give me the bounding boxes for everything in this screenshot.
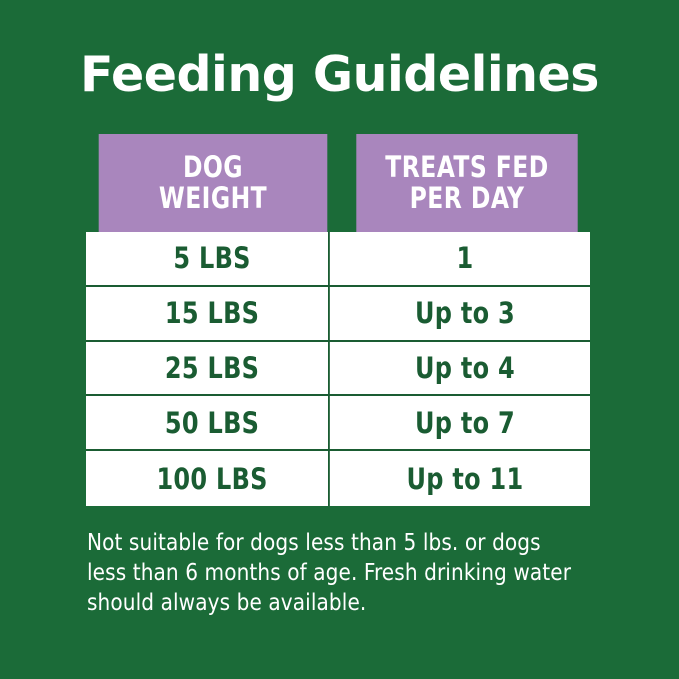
- cell-treats-per-day: 1: [350, 232, 580, 285]
- table-row: 5 LBS 1: [86, 232, 590, 287]
- column-header-dog-weight-line1: DOG: [183, 150, 243, 184]
- cell-dog-weight: 15 LBS: [96, 287, 330, 340]
- cell-treats-per-day: Up to 11: [350, 451, 580, 506]
- table-row: 100 LBS Up to 11: [86, 451, 590, 506]
- table-row: 50 LBS Up to 7: [86, 396, 590, 451]
- footnote-text: Not suitable for dogs less than 5 lbs. o…: [87, 527, 573, 617]
- feeding-guidelines-table: DOGWEIGHT TREATS FEDPER DAY 5 LBS 1 15 L…: [86, 134, 590, 506]
- table-header-row: DOGWEIGHT TREATS FEDPER DAY: [86, 134, 590, 232]
- cell-treats-per-day: Up to 3: [350, 287, 580, 340]
- page-title: Feeding Guidelines: [0, 46, 679, 104]
- cell-dog-weight: 100 LBS: [96, 451, 330, 506]
- table-row: 15 LBS Up to 3: [86, 287, 590, 342]
- column-header-dog-weight-line2: WEIGHT: [159, 181, 267, 215]
- cell-dog-weight: 50 LBS: [96, 396, 330, 449]
- cell-treats-per-day: Up to 7: [350, 396, 580, 449]
- table-row: 25 LBS Up to 4: [86, 342, 590, 397]
- column-header-treats-line2: PER DAY: [410, 181, 525, 215]
- table-body: 5 LBS 1 15 LBS Up to 3 25 LBS Up to 4 50…: [86, 232, 590, 506]
- cell-dog-weight: 5 LBS: [96, 232, 330, 285]
- column-header-dog-weight-text: DOGWEIGHT: [159, 152, 267, 214]
- column-header-treats-fed-per-day: TREATS FEDPER DAY: [356, 134, 577, 232]
- column-header-treats-text: TREATS FEDPER DAY: [385, 152, 548, 214]
- header-column-divider: [340, 134, 344, 232]
- column-header-dog-weight: DOGWEIGHT: [99, 134, 328, 232]
- cell-dog-weight: 25 LBS: [96, 342, 330, 395]
- cell-treats-per-day: Up to 4: [350, 342, 580, 395]
- column-header-treats-line1: TREATS FED: [385, 150, 548, 184]
- feeding-guidelines-panel: Feeding Guidelines DOGWEIGHT TREATS FEDP…: [0, 0, 679, 679]
